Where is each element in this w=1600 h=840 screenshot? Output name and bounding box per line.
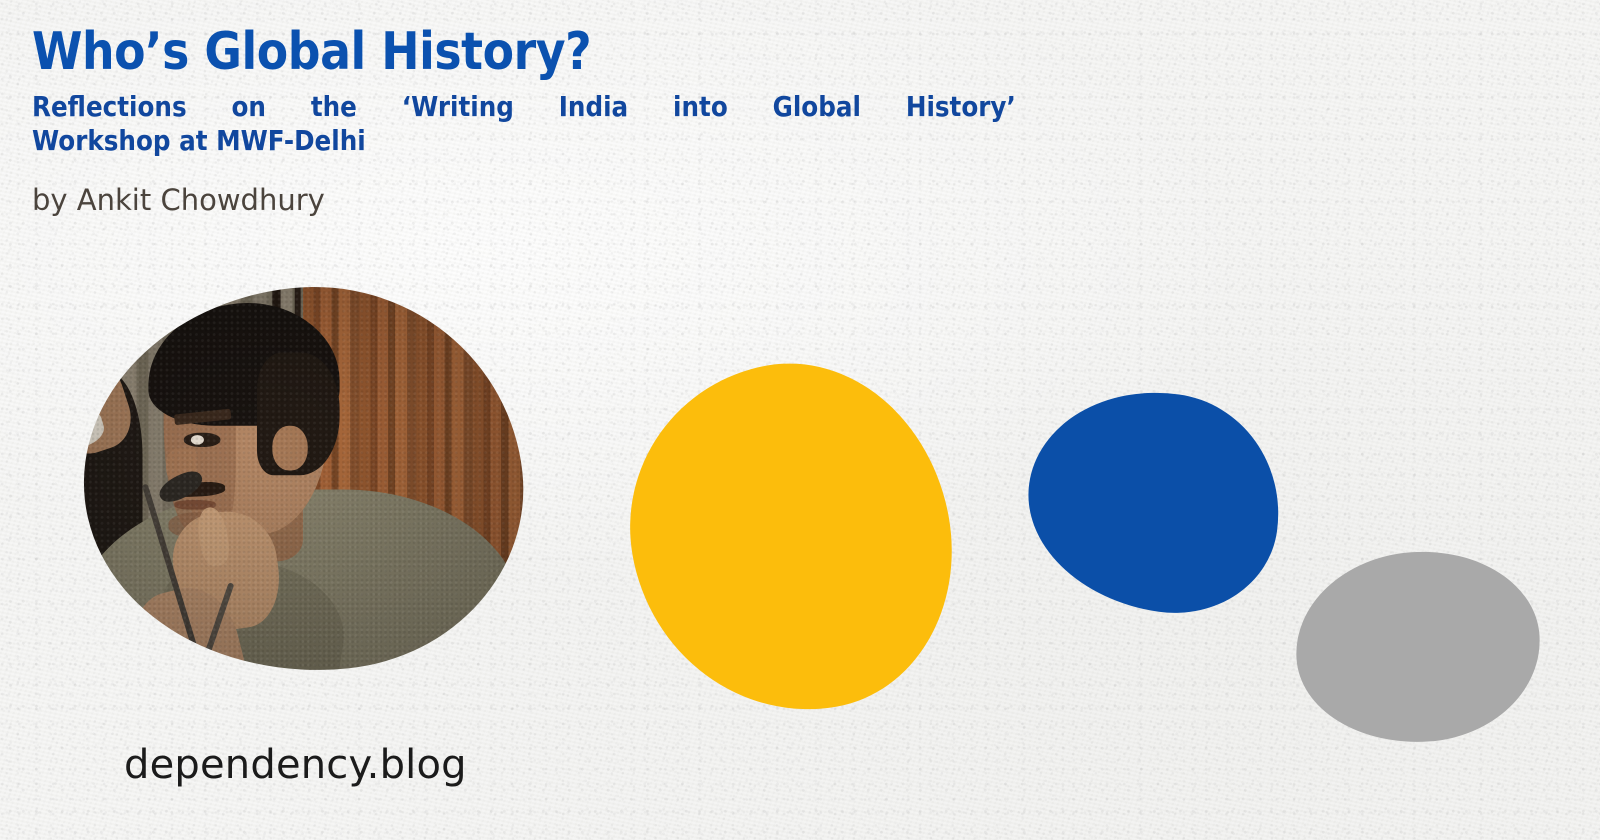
gray-blob xyxy=(1290,544,1547,751)
page-subtitle: Reflections on the ‘Writing India into G… xyxy=(32,90,1018,158)
portrait-scene xyxy=(65,266,541,694)
author-byline: by Ankit Chowdhury xyxy=(32,182,1042,218)
poster-canvas: Who’s Global History? Reflections on the… xyxy=(0,0,1600,840)
site-brand[interactable]: dependency.blog xyxy=(124,742,467,788)
headline-block: Who’s Global History? Reflections on the… xyxy=(32,22,1042,218)
portrait-grain xyxy=(65,266,541,694)
page-title: Who’s Global History? xyxy=(32,22,921,82)
author-portrait-blob xyxy=(65,266,541,694)
page-subtitle-line-2: Workshop at MWF-Delhi xyxy=(32,124,1018,158)
author-portrait-image xyxy=(65,266,541,694)
page-subtitle-line-1: Reflections on the ‘Writing India into G… xyxy=(32,90,1016,124)
yellow-blob xyxy=(604,339,978,737)
blue-blob xyxy=(1014,376,1294,627)
